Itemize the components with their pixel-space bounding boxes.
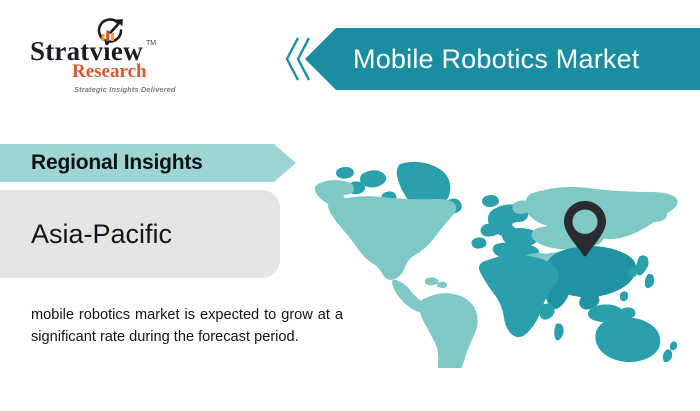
trademark-symbol: TM bbox=[146, 40, 156, 47]
map-landmasses bbox=[315, 162, 678, 368]
brand-name-secondary: Research bbox=[72, 62, 147, 81]
region-card: Asia-Pacific bbox=[0, 190, 280, 278]
regional-insights-label: Regional Insights bbox=[31, 144, 203, 182]
page-title: Mobile Robotics Market bbox=[353, 28, 686, 90]
header-banner: Mobile Robotics Market bbox=[305, 28, 700, 90]
regional-insights-tab: Regional Insights bbox=[0, 144, 296, 182]
slide-canvas: Stratview TM Research Strategic Insights… bbox=[0, 0, 700, 411]
brand-logo: Stratview TM Research Strategic Insights… bbox=[30, 16, 180, 96]
region-description: mobile robotics market is expected to gr… bbox=[31, 304, 343, 348]
world-map bbox=[300, 158, 700, 368]
brand-tagline: Strategic Insights Delivered bbox=[74, 85, 176, 94]
region-name: Asia-Pacific bbox=[31, 190, 172, 278]
location-pin-icon[interactable] bbox=[562, 199, 608, 257]
